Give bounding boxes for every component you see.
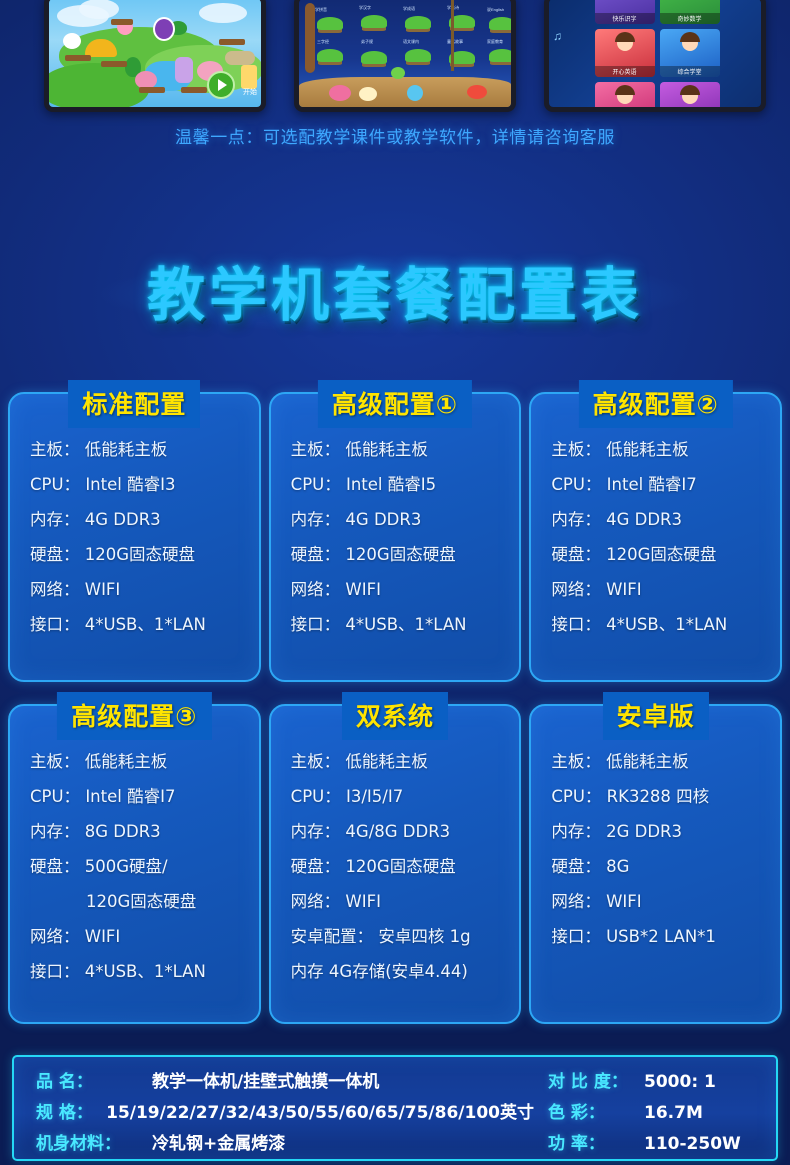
spec-value: WIFI [85,572,121,607]
spec-value: 120G固态硬盘 [85,537,195,572]
panel-row: 功 率： 110-250W [548,1129,774,1160]
spec-row: 接口： USB*2 LAN*1 [551,919,780,954]
panel-value: 110-250W [644,1129,741,1160]
panel-value: 5000: 1 [644,1067,716,1098]
spec-value: 4*USB、1*LAN [85,607,206,642]
spec-key: 网络： [551,572,601,607]
spec-value: 8G DDR3 [85,814,161,849]
spec-key: 内存： [291,814,341,849]
spec-value: 4*USB、1*LAN [85,954,206,989]
spec-value: Intel 酷睿I7 [85,779,175,814]
spec-row: CPU： Intel 酷睿I5 [291,467,520,502]
spec-list: 主板： 低能耗主板 CPU： Intel 酷睿I3 内存： 4G DDR3 硬盘… [10,426,259,642]
card-badge: 安卓版 [603,692,709,740]
spec-key: 内存： [30,502,80,537]
spec-row: 内存： 4G DDR3 [30,502,259,537]
config-card-android[interactable]: 安卓版 主板： 低能耗主板 CPU： RK3288 四核 内存： 2G DDR3… [529,704,782,1024]
spec-row: 硬盘： 120G固态硬盘 [291,849,520,884]
card-badge: 高级配置① [318,380,472,428]
spec-row: 内存： 4G/8G DDR3 [291,814,520,849]
spec-row: 主板： 低能耗主板 [291,432,520,467]
spec-panel-left-column: 品 名： 教学一体机/挂壁式触摸一体机 规 格： 15/19/22/27/32/… [14,1057,534,1159]
spec-row: 主板： 低能耗主板 [30,432,259,467]
spec-key: 内存： [291,502,341,537]
spec-row: 主板： 低能耗主板 [30,744,259,779]
spec-row: 硬盘： 120G固态硬盘 [30,537,259,572]
panel-label: 机身材料： [36,1129,152,1160]
panel-row: 规 格： 15/19/22/27/32/43/50/55/60/65/75/86… [36,1098,534,1129]
spec-value: 低能耗主板 [345,432,428,467]
spec-key: 内存 4G存储(安卓4.44) [291,954,468,989]
spec-row: 网络： WIFI [551,572,780,607]
promo-note: 温馨一点：可选配教学课件或教学软件，详情请咨询客服 [0,123,790,148]
spec-row: 主板： 低能耗主板 [551,744,780,779]
spec-key: 网络： [551,884,601,919]
config-card-advanced-2[interactable]: 高级配置② 主板： 低能耗主板 CPU： Intel 酷睿I7 内存： 4G D… [529,392,782,682]
spec-key: 硬盘： [291,849,341,884]
island-menu-screen: 学拼音 学汉字 学成语 学古诗 说English 三字经 弟子规 语文课内 童话… [294,0,516,112]
spec-key: CPU： [291,467,341,502]
panel-value: 16.7M [644,1098,703,1129]
config-row-1: 标准配置 主板： 低能耗主板 CPU： Intel 酷睿I3 内存： 4G DD… [8,392,782,682]
spec-value: Intel 酷睿I7 [607,467,697,502]
card-badge: 高级配置② [579,380,733,428]
spec-row: CPU： I3/I5/I7 [291,779,520,814]
spec-value: 低能耗主板 [606,744,689,779]
config-card-grid: 标准配置 主板： 低能耗主板 CPU： Intel 酷睿I3 内存： 4G DD… [8,392,782,1024]
spec-value: 低能耗主板 [85,744,168,779]
panel-label: 品 名： [36,1067,152,1098]
spec-row: 硬盘： 120G固态硬盘 [551,537,780,572]
kids-learning-map-screen: 开始 [44,0,266,112]
spec-value: Intel 酷睿I5 [346,467,436,502]
panel-label: 色 彩： [548,1098,644,1129]
spec-value: 低能耗主板 [85,432,168,467]
spec-row: 接口： 4*USB、1*LAN [551,607,780,642]
spec-row: 内存： 4G DDR3 [291,502,520,537]
spec-value: 120G固态硬盘 [606,537,716,572]
spec-key: 主板： [291,744,341,779]
island-illustration: 学拼音 学汉字 学成语 学古诗 说English 三字经 弟子规 语文课内 童话… [299,0,511,107]
spec-row: 主板： 低能耗主板 [291,744,520,779]
music-note-icon: ♫ [553,29,562,43]
spec-value: 4G DDR3 [606,502,682,537]
spec-key: 内存： [30,814,80,849]
spec-value: USB*2 LAN*1 [606,919,716,954]
config-card-advanced-3[interactable]: 高级配置③ 主板： 低能耗主板 CPU： Intel 酷睿I7 内存： 8G D… [8,704,261,1024]
spec-value: WIFI [85,919,121,954]
spec-value: WIFI [345,884,381,919]
spec-key: 网络： [30,919,80,954]
spec-value: 120G固态硬盘 [86,884,196,919]
config-card-dual-system[interactable]: 双系统 主板： 低能耗主板 CPU： I3/I5/I7 内存： 4G/8G DD… [269,704,522,1024]
app-grid-screen: ♫ 快乐识字 奇妙数学 开心英语 综合学堂 亲子家园 游戏专区 [544,0,766,112]
spec-row: 网络： WIFI [291,572,520,607]
spec-key: 主板： [291,432,341,467]
spec-row: 内存： 2G DDR3 [551,814,780,849]
spec-key: 主板： [30,432,80,467]
app-tile[interactable]: 综合学堂 [660,29,720,77]
spec-key: 网络： [291,572,341,607]
spec-value: 2G DDR3 [606,814,682,849]
card-badge: 高级配置③ [57,692,211,740]
spec-row: 网络： WIFI [30,572,259,607]
spec-row: 网络： WIFI [30,919,259,954]
panel-label: 规 格： [36,1098,106,1129]
spec-row: 硬盘： 120G固态硬盘 [291,537,520,572]
spec-key: 主板： [551,432,601,467]
spec-key: 网络： [30,572,80,607]
spec-key: 接口： [291,607,341,642]
app-tile[interactable]: 亲子家园 [595,82,655,112]
spec-key: 硬盘： [551,849,601,884]
spec-row: 接口： 4*USB、1*LAN [291,607,520,642]
spec-value: 8G [606,849,629,884]
spec-row: 网络： WIFI [551,884,780,919]
spec-row: 安卓配置： 安卓四核 1g [291,919,520,954]
panel-row: 对 比 度： 5000: 1 [548,1067,774,1098]
panel-value: 15/19/22/27/32/43/50/55/60/65/75/86/100英… [106,1098,534,1129]
spec-value: 4G/8G DDR3 [345,814,450,849]
spec-row: 网络： WIFI [291,884,520,919]
spec-list: 主板： 低能耗主板 CPU： Intel 酷睿I7 内存： 8G DDR3 硬盘… [10,738,259,989]
spec-row: 内存： 4G DDR3 [551,502,780,537]
spec-key: 内存： [551,502,601,537]
spec-row: CPU： Intel 酷睿I7 [30,779,259,814]
spec-key: 网络： [291,884,341,919]
spec-key: CPU： [551,467,601,502]
spec-list: 主板： 低能耗主板 CPU： RK3288 四核 内存： 2G DDR3 硬盘：… [531,738,780,954]
spec-key: 硬盘： [551,537,601,572]
product-screens-strip: 开始 学拼音 学汉字 学成语 学古诗 说English 三字经 弟子规 语文课内… [0,0,790,118]
spec-value: 低能耗主板 [606,432,689,467]
page-title-wrap: 教学机套餐配置表 [0,248,790,332]
spec-value: 500G硬盘/ [85,849,168,884]
spec-value: 4*USB、1*LAN [345,607,466,642]
map-illustration: 开始 [49,0,261,107]
spec-value: I3/I5/I7 [346,779,403,814]
card-badge: 双系统 [342,692,448,740]
spec-value: 4G DDR3 [345,502,421,537]
spec-row: CPU： Intel 酷睿I7 [551,467,780,502]
spec-key: 接口： [30,954,80,989]
spec-value: 4*USB、1*LAN [606,607,727,642]
spec-row-continuation: 120G固态硬盘 [30,884,259,919]
map-start-label: 开始 [243,87,257,97]
spec-value: WIFI [606,572,642,607]
spec-key: CPU： [30,467,80,502]
spec-row: 硬盘： 8G [551,849,780,884]
app-tile[interactable]: 奇妙数学 [660,0,720,24]
panel-value: 冷轧钢+金属烤漆 [152,1129,285,1160]
spec-row: 接口： 4*USB、1*LAN [30,954,259,989]
spec-value: Intel 酷睿I3 [85,467,175,502]
config-card-advanced-1[interactable]: 高级配置① 主板： 低能耗主板 CPU： Intel 酷睿I5 内存： 4G D… [269,392,522,682]
spec-value: RK3288 四核 [607,779,710,814]
spec-panel-right-column: 对 比 度： 5000: 1 色 彩： 16.7M 功 率： 110-250W [534,1057,774,1159]
spec-key: 接口： [30,607,80,642]
panel-label: 功 率： [548,1129,644,1160]
page-root: 开始 学拼音 学汉字 学成语 学古诗 说English 三字经 弟子规 语文课内… [0,0,790,1165]
spec-key: CPU： [30,779,80,814]
spec-list: 主板： 低能耗主板 CPU： Intel 酷睿I5 内存： 4G DDR3 硬盘… [271,426,520,642]
product-spec-panel: 品 名： 教学一体机/挂壁式触摸一体机 规 格： 15/19/22/27/32/… [12,1055,778,1161]
spec-key: 接口： [551,919,601,954]
spec-value: 4G DDR3 [85,502,161,537]
spec-key: 硬盘： [291,537,341,572]
config-card-standard[interactable]: 标准配置 主板： 低能耗主板 CPU： Intel 酷睿I3 内存： 4G DD… [8,392,261,682]
card-badge: 标准配置 [68,380,200,428]
spec-row: 内存 4G存储(安卓4.44) [291,954,520,989]
spec-list: 主板： 低能耗主板 CPU： Intel 酷睿I7 内存： 4G DDR3 硬盘… [531,426,780,642]
app-grid: ♫ 快乐识字 奇妙数学 开心英语 综合学堂 亲子家园 游戏专区 [549,0,761,107]
spec-row: 接口： 4*USB、1*LAN [30,607,259,642]
spec-key: 内存： [551,814,601,849]
spec-value: 120G固态硬盘 [345,849,455,884]
app-tile[interactable]: 开心英语 [595,29,655,77]
panel-row: 品 名： 教学一体机/挂壁式触摸一体机 [36,1067,534,1098]
config-row-2: 高级配置③ 主板： 低能耗主板 CPU： Intel 酷睿I7 内存： 8G D… [8,704,782,1024]
spec-value: WIFI [606,884,642,919]
spec-row: CPU： Intel 酷睿I3 [30,467,259,502]
map-start-button[interactable] [207,71,235,99]
spec-list: 主板： 低能耗主板 CPU： I3/I5/I7 内存： 4G/8G DDR3 硬… [271,738,520,989]
panel-row: 机身材料： 冷轧钢+金属烤漆 [36,1129,534,1160]
spec-row: 硬盘： 500G硬盘/ [30,849,259,884]
spec-row: CPU： RK3288 四核 [551,779,780,814]
panel-row: 色 彩： 16.7M [548,1098,774,1129]
page-title: 教学机套餐配置表 [147,248,643,332]
spec-key: 主板： [551,744,601,779]
spec-key: 主板： [30,744,80,779]
panel-label: 对 比 度： [548,1067,644,1098]
spec-value: WIFI [345,572,381,607]
spec-key: 硬盘： [30,849,80,884]
spec-key: CPU： [551,779,601,814]
spec-key: 硬盘： [30,537,80,572]
spec-row: 主板： 低能耗主板 [551,432,780,467]
spec-key: CPU： [291,779,341,814]
spec-row: 内存： 8G DDR3 [30,814,259,849]
app-tile[interactable]: 游戏专区 [660,82,720,112]
spec-key: 安卓配置： [291,919,374,954]
panel-value: 教学一体机/挂壁式触摸一体机 [152,1067,379,1098]
spec-value: 低能耗主板 [345,744,428,779]
spec-key: 接口： [551,607,601,642]
spec-value: 安卓四核 1g [378,919,470,954]
spec-value: 120G固态硬盘 [345,537,455,572]
app-tile[interactable]: 快乐识字 [595,0,655,24]
